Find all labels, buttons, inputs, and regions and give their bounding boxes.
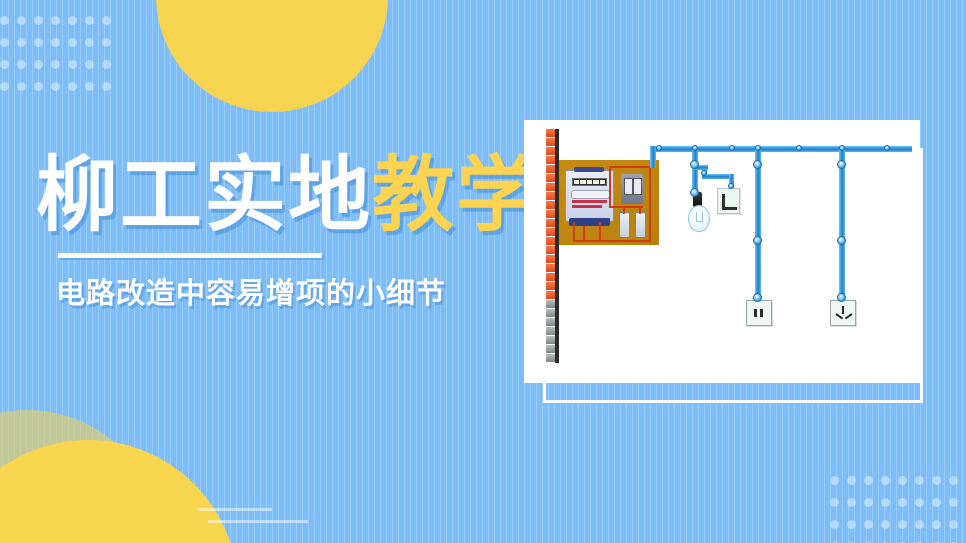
conduit-node: [839, 145, 845, 151]
page-title-white-part: 柳工实地: [36, 148, 372, 243]
conduit-outlet-b-drop: [839, 149, 845, 299]
page-title: 柳工实地教学: [36, 155, 516, 237]
decor-line-lower: [208, 520, 308, 523]
conduit-drop-to-board: [650, 146, 656, 168]
two-pin-outlet: [746, 300, 772, 326]
illustration-card: [524, 120, 920, 383]
conduit-node: [701, 170, 707, 176]
conduit-node: [837, 293, 846, 302]
conduit-node: [729, 145, 735, 151]
red-wire-fuse-feed: [609, 206, 643, 208]
conduit-node: [692, 145, 698, 151]
conduit-node: [755, 145, 761, 151]
page-subtitle: 电路改造中容易增项的小细节: [56, 270, 516, 312]
red-wire-fuse-2: [639, 206, 641, 214]
conduit-outlet-a-drop: [755, 149, 761, 299]
red-wire-right: [649, 166, 651, 242]
red-wire-fuse-1: [623, 206, 625, 214]
conduit-node: [656, 145, 662, 151]
circuit-diagram: [524, 120, 920, 383]
conduit-node: [753, 160, 762, 169]
meter-board: [559, 160, 659, 245]
title-divider: [58, 253, 322, 258]
poster-canvas: 柳工实地教学 电路改造中容易增项的小细节: [0, 0, 966, 543]
red-wire-1: [573, 222, 575, 242]
page-title-yellow-part: 教学: [372, 148, 540, 243]
circuit-breaker: [621, 174, 643, 204]
ceiling-light: [688, 205, 710, 232]
conduit-node: [753, 236, 762, 245]
decor-line-upper: [198, 508, 272, 511]
red-wire-3: [599, 222, 601, 242]
conduit-node: [690, 160, 699, 169]
conduit-main-horizontal: [650, 146, 912, 152]
red-wire-top: [609, 166, 651, 168]
fuse-right: [635, 212, 646, 238]
conduit-node: [796, 145, 802, 151]
conduit-node: [884, 145, 890, 151]
conduit-node: [690, 188, 699, 197]
conduit-node: [753, 293, 762, 302]
dot-grid-top-left: [0, 16, 119, 104]
yellow-circle-top: [156, 0, 388, 112]
conduit-node: [837, 236, 846, 245]
brick-wall: [546, 129, 559, 372]
three-pin-outlet: [830, 300, 856, 326]
fuse-left: [619, 212, 630, 238]
meter-digits: [572, 178, 607, 186]
headline-block: 柳工实地教学 电路改造中容易增项的小细节: [36, 155, 516, 312]
conduit-node: [837, 160, 846, 169]
red-wire-bus: [573, 240, 651, 242]
conduit-node: [728, 183, 734, 189]
yellow-circle-bottom-left-front: [0, 440, 238, 543]
dot-grid-bottom-right: [830, 476, 966, 543]
wall-switch: [717, 188, 740, 214]
conduit-light-drop: [692, 149, 698, 193]
red-wire-mid: [609, 166, 611, 206]
electricity-meter: [565, 170, 614, 222]
